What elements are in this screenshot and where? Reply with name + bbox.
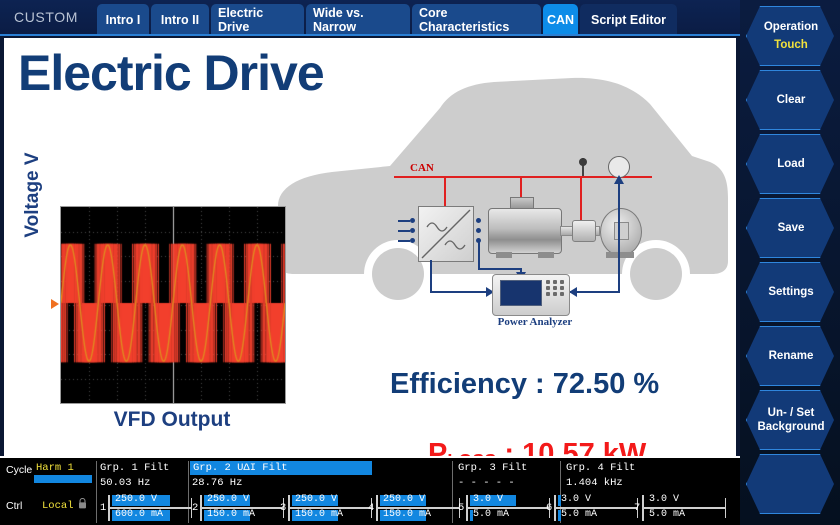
inverter-input-terminal	[410, 218, 415, 223]
tab-intro-ii[interactable]: Intro II	[151, 4, 209, 36]
drive-schematic: CAN	[384, 156, 654, 336]
can-drop-motor	[520, 176, 522, 198]
tab-can[interactable]: CAN	[543, 4, 578, 36]
sidebar-button-label: Clear	[777, 93, 806, 107]
ctrl-label: Ctrl	[6, 500, 22, 512]
measure-line-motor-h	[478, 268, 522, 270]
group-3-frequency: - - - - -	[458, 477, 515, 489]
scope-caption: VFD Output	[60, 408, 284, 432]
group-2-header[interactable]: Grp. 2 UΔI Filt	[190, 461, 372, 475]
power-analyzer-label: Power Analyzer	[480, 316, 590, 328]
dynamometer-foot	[606, 252, 634, 258]
inverter-input-terminal	[410, 228, 415, 233]
channel-4-voltage-text: 250.0 V	[383, 494, 425, 505]
channel-1-voltage-text: 250.0 V	[115, 494, 157, 505]
sidebar-button-label: Load	[777, 157, 804, 171]
group-1-frequency: 50.03 Hz	[100, 477, 150, 489]
power-loss-value: 10.57 kW	[522, 438, 646, 456]
tab-core-characteristics[interactable]: Core Characteristics	[412, 4, 541, 36]
channel-4-range-bar[interactable]: 250.0 V150.0 mA	[376, 495, 460, 521]
power-analyzer-screen	[500, 280, 542, 306]
channel-5-voltage-text: 3.0 V	[473, 494, 503, 505]
application-window: CUSTOM Intro IIntro IIElectric DriveWide…	[0, 0, 840, 525]
sidebar-button-rename[interactable]: Rename	[746, 326, 836, 386]
sidebar-button-label: Save	[778, 221, 805, 235]
main-content-panel: Electric Drive CAN	[4, 38, 736, 456]
group-2-frequency: 28.76 Hz	[192, 477, 242, 489]
motor-foot	[538, 252, 554, 258]
motor-icon	[488, 208, 562, 254]
channel-2-voltage: 250.0 V	[204, 495, 278, 506]
channel-4-current: 150.0 mA	[380, 510, 454, 521]
group-4-header[interactable]: Grp. 4 Filt	[566, 462, 635, 474]
group-4-frequency: 1.404 kHz	[566, 477, 623, 489]
lock-icon	[78, 498, 87, 509]
sidebar-button-operation[interactable]: OperationTouch	[746, 6, 836, 66]
ctrl-value[interactable]: Local	[42, 500, 74, 512]
power-loss-separator: :	[496, 438, 522, 456]
efficiency-label: Efficiency :	[390, 368, 545, 400]
sidebar-button-blank[interactable]	[746, 454, 836, 514]
channel-7-range-bar[interactable]: 3.0 V5.0 mA	[642, 495, 726, 521]
tab-wide-vs-narrow[interactable]: Wide vs. Narrow	[306, 4, 410, 36]
channel-3-number: 3	[280, 502, 286, 514]
channel-6-current-text: 5.0 mA	[561, 509, 597, 520]
channel-1-range-bar[interactable]: 250.0 V600.0 mA	[108, 495, 192, 521]
channel-3-current-text: 150.0 mA	[295, 509, 343, 520]
channel-5-current-text: 5.0 mA	[473, 509, 509, 520]
channel-2-current-text: 150.0 mA	[207, 509, 255, 520]
can-drop-dyno	[580, 176, 582, 220]
inverter-lead	[398, 240, 410, 242]
channel-7-voltage-text: 3.0 V	[649, 494, 679, 505]
channel-5-number: 5	[458, 502, 464, 514]
tab-script-editor[interactable]: Script Editor	[580, 4, 677, 36]
status-bar: Cycle Harm 1 Ctrl Local Grp. 1 Filt50.03…	[0, 458, 740, 525]
sidebar-button-un-set-background[interactable]: Un- / Set Background	[746, 390, 836, 450]
sidebar-button-load[interactable]: Load	[746, 134, 836, 194]
channel-4-number: 4	[368, 502, 374, 514]
power-analyzer-keypad	[546, 280, 564, 298]
measure-line-inverter	[430, 260, 432, 292]
can-bus-label: CAN	[410, 162, 434, 174]
scope-display[interactable]	[60, 206, 286, 404]
channel-3-voltage: 250.0 V	[292, 495, 366, 506]
inverter-output-terminal	[476, 218, 481, 223]
tab-intro-i[interactable]: Intro I	[97, 4, 149, 36]
sidebar-button-sublabel: Touch	[774, 38, 808, 52]
channel-3-current: 150.0 mA	[292, 510, 366, 521]
channel-2-range-bar[interactable]: 250.0 V150.0 mA	[200, 495, 284, 521]
inverter-lead	[398, 230, 410, 232]
tab-bar: CUSTOM Intro IIntro IIElectric DriveWide…	[0, 0, 740, 36]
channel-1-voltage: 250.0 V	[112, 495, 186, 506]
channel-7-current-text: 5.0 mA	[649, 509, 685, 520]
inverter-output-terminal	[476, 228, 481, 233]
sidebar-button-save[interactable]: Save	[746, 198, 836, 258]
channel-3-range-bar[interactable]: 250.0 V150.0 mA	[288, 495, 372, 521]
sidebar-button-settings[interactable]: Settings	[746, 262, 836, 322]
sidebar-button-label: Un- / Set Background	[757, 406, 824, 435]
channel-2-current: 150.0 mA	[204, 510, 278, 521]
channel-6-voltage: 3.0 V	[558, 495, 632, 506]
cycle-bar	[34, 475, 92, 483]
tab-underline	[0, 34, 740, 36]
scope-widget: Voltage V VFD Output	[48, 206, 284, 446]
inverter-icon	[418, 206, 474, 262]
channel-5-range-bar[interactable]: 3.0 V5.0 mA	[466, 495, 550, 521]
channel-7-voltage: 3.0 V	[646, 495, 720, 506]
channel-1-current-text: 600.0 mA	[115, 509, 163, 520]
inverter-input-terminal	[410, 238, 415, 243]
channel-6-number: 6	[546, 502, 552, 514]
measure-line-motor	[478, 240, 480, 270]
channel-6-current: 5.0 mA	[558, 510, 632, 521]
channel-6-voltage-text: 3.0 V	[561, 494, 591, 505]
channel-7-current: 5.0 mA	[646, 510, 720, 521]
cycle-value[interactable]: Harm 1	[36, 462, 74, 474]
group-3-header[interactable]: Grp. 3 Filt	[458, 462, 527, 474]
status-separator	[96, 461, 97, 523]
scope-y-axis-label: Voltage V	[22, 140, 44, 250]
custom-label: CUSTOM	[14, 9, 78, 25]
efficiency-value: 72.50 %	[553, 368, 659, 400]
sidebar: OperationTouchClearLoadSaveSettingsRenam…	[740, 0, 840, 525]
tab-electric-drive[interactable]: Electric Drive	[211, 4, 304, 36]
channel-3-voltage-text: 250.0 V	[295, 494, 337, 505]
channel-4-voltage: 250.0 V	[380, 495, 454, 506]
power-loss-readout: PLOSS : 10.57 kW	[428, 438, 646, 456]
group-1-header[interactable]: Grp. 1 Filt	[100, 462, 169, 474]
channel-4-current-text: 150.0 mA	[383, 509, 431, 520]
sidebar-button-label: Operation	[764, 20, 818, 34]
torque-coupling-icon	[572, 220, 596, 242]
channel-2-voltage-text: 250.0 V	[207, 494, 249, 505]
sidebar-button-clear[interactable]: Clear	[746, 70, 836, 130]
can-drop-inverter	[444, 176, 446, 206]
channel-5-voltage: 3.0 V	[470, 495, 544, 506]
arrow-icon	[614, 174, 624, 186]
measure-line-inverter-h	[430, 291, 492, 293]
temperature-probe-tip-icon	[579, 158, 587, 166]
motor-foot	[496, 252, 512, 258]
channel-1-number: 1	[100, 502, 106, 514]
channel-2-number: 2	[192, 502, 198, 514]
sidebar-button-label: Settings	[768, 285, 813, 299]
channel-1-current: 600.0 mA	[112, 510, 186, 521]
cycle-label: Cycle	[6, 464, 32, 476]
dynamometer-hub	[614, 222, 629, 240]
channel-7-number: 7	[634, 502, 640, 514]
trigger-marker-icon	[51, 299, 59, 309]
sidebar-button-label: Rename	[769, 349, 814, 363]
channel-6-range-bar[interactable]: 3.0 V5.0 mA	[554, 495, 638, 521]
measure-line-dyno	[618, 178, 620, 292]
inverter-lead	[398, 220, 410, 222]
efficiency-readout: Efficiency : 72.50 %	[390, 368, 659, 401]
channel-5-current: 5.0 mA	[470, 510, 544, 521]
power-loss-label: P	[428, 438, 447, 456]
